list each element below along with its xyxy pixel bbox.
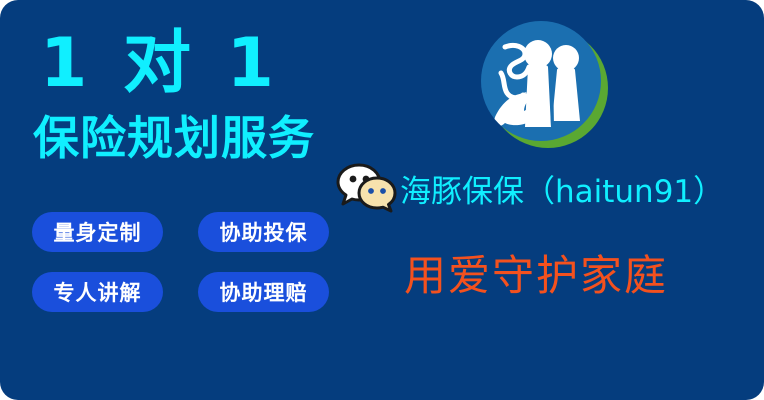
service-feature-list: 量身定制 协助投保 专人讲解 协助理赔 xyxy=(32,212,332,332)
promo-banner: 1 对 1 保险规划服务 量身定制 协助投保 专人讲解 协助理赔 xyxy=(0,0,764,400)
brand-logo xyxy=(478,18,618,158)
feature-pill-expert-explanation[interactable]: 专人讲解 xyxy=(32,272,163,312)
brand-slogan: 用爱守护家庭 xyxy=(404,252,668,300)
wechat-handle-text: 海豚保保（haitun91） xyxy=(400,166,724,211)
page-title: 1 对 1 xyxy=(40,27,280,101)
feature-pill-application-help[interactable]: 协助投保 xyxy=(198,212,329,252)
feature-row-1: 量身定制 协助投保 xyxy=(32,212,332,252)
globe-family-dolphin-icon xyxy=(481,21,601,141)
left-content-column: 1 对 1 保险规划服务 量身定制 协助投保 专人讲解 协助理赔 xyxy=(0,0,360,400)
wechat-icon xyxy=(336,162,398,214)
page-subtitle: 保险规划服务 xyxy=(33,112,315,164)
feature-pill-custom-plan[interactable]: 量身定制 xyxy=(32,212,163,252)
right-content-column: 海豚保保（haitun91） 用爱守护家庭 xyxy=(360,0,764,400)
wechat-contact-row[interactable]: 海豚保保（haitun91） xyxy=(336,160,724,216)
feature-pill-claims-help[interactable]: 协助理赔 xyxy=(198,272,329,312)
feature-row-2: 专人讲解 协助理赔 xyxy=(32,272,332,312)
